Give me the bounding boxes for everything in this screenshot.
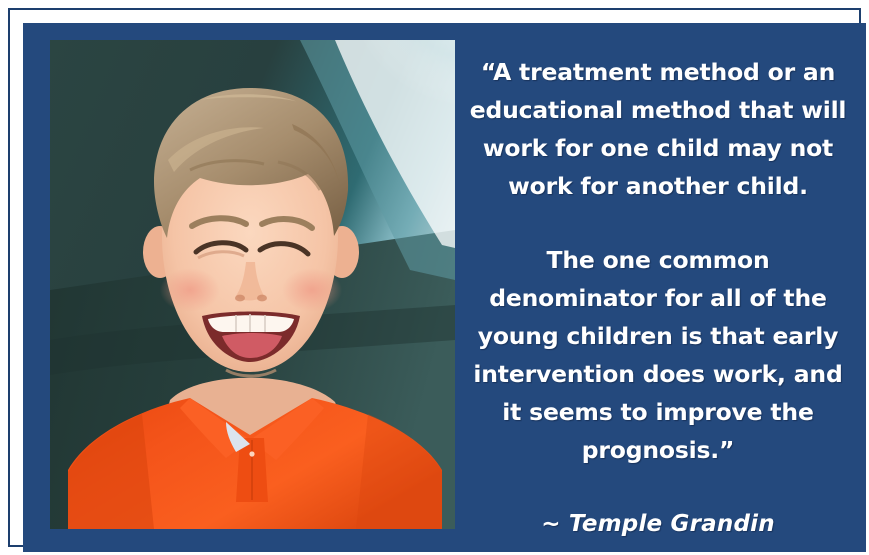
slide-border-rule: “A treatment method or an educational me…: [8, 8, 861, 547]
child-photo: [50, 40, 455, 529]
quote-block: “A treatment method or an educational me…: [463, 53, 853, 537]
quote-paragraph-1: “A treatment method or an educational me…: [463, 53, 853, 205]
quote-paragraph-2: The one common denominator for all of th…: [463, 241, 853, 469]
blue-panel: “A treatment method or an educational me…: [23, 23, 866, 552]
quote-slide: “A treatment method or an educational me…: [0, 0, 869, 555]
quote-attribution: ~ Temple Grandin: [463, 511, 853, 537]
child-photo-illustration: [50, 40, 455, 529]
quote-spacer: [463, 205, 853, 241]
